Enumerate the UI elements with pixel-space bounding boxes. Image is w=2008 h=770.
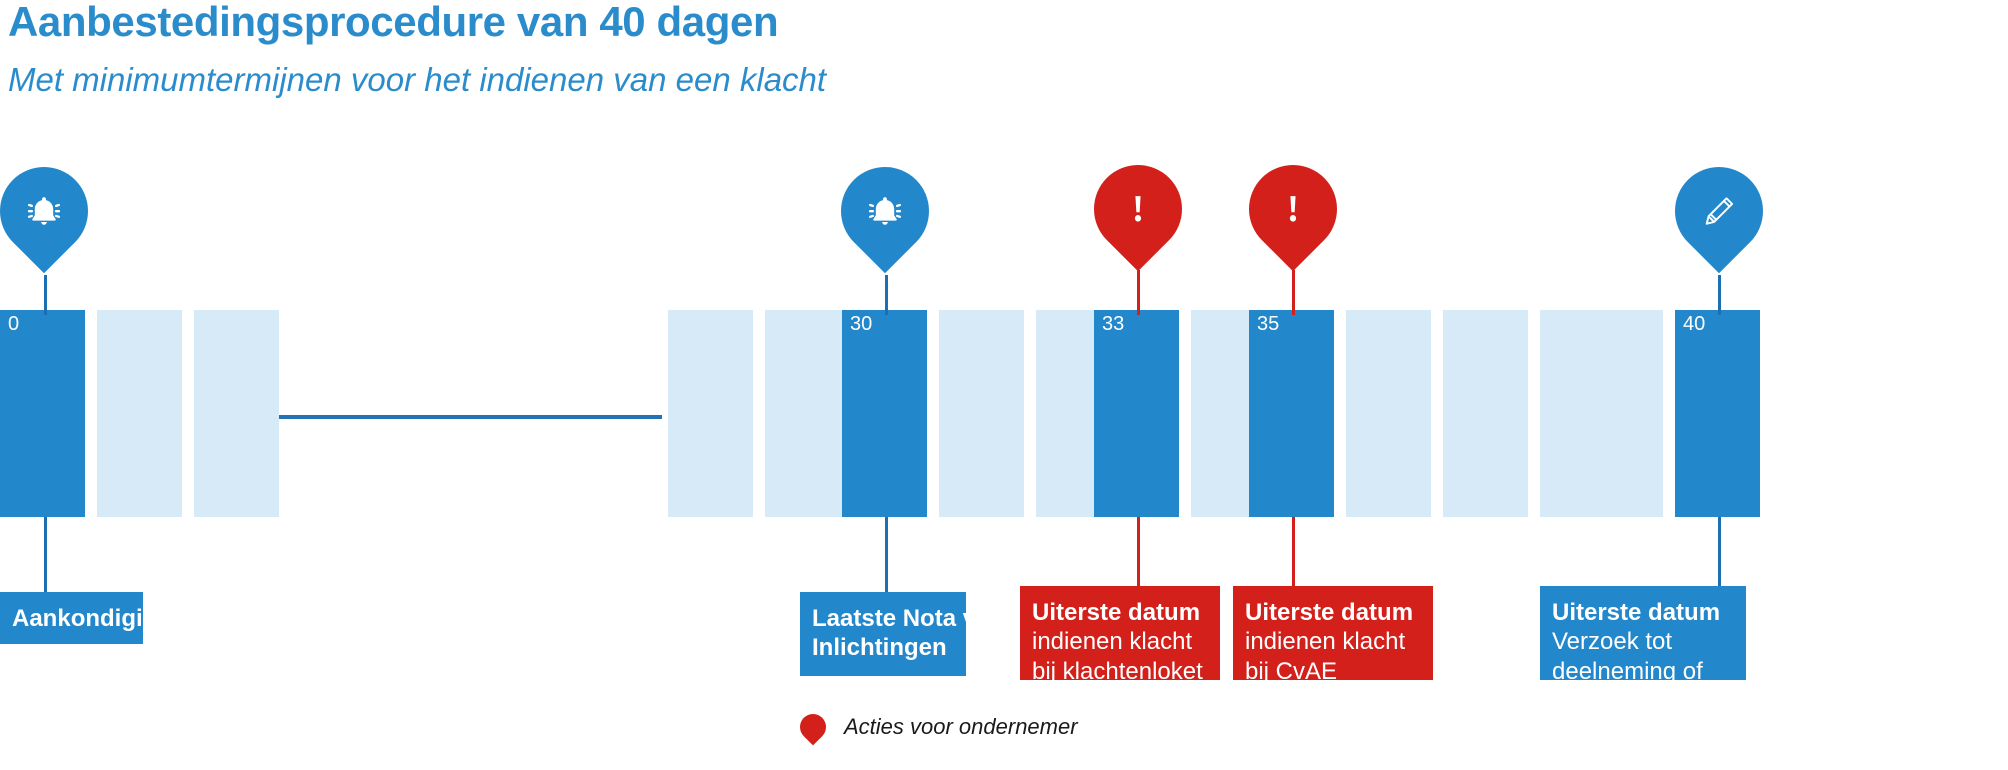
pin-stem-day-40 <box>1718 275 1721 315</box>
timeline-bar-day-30: 30 <box>842 310 927 517</box>
bell-icon <box>0 167 88 255</box>
timeline-gap-connector <box>272 415 662 419</box>
label-stem-day-0 <box>44 517 47 595</box>
timeline-bar <box>939 310 1024 517</box>
milestone-label-day-40[interactable]: Uiterste datum Verzoek tot deelneming of… <box>1540 586 1746 680</box>
milestone-label-title: Uiterste datum <box>1552 598 1736 627</box>
timeline-bar-day-40: 40 <box>1675 310 1760 517</box>
legend-label: Acties voor ondernemer <box>844 714 1078 740</box>
timeline-bar <box>194 310 279 517</box>
milestone-pin-day-40[interactable] <box>1675 167 1763 279</box>
timeline-bar <box>97 310 182 517</box>
bar-day-label: 40 <box>1683 314 1705 334</box>
milestone-label-day-35[interactable]: Uiterste datum indienen klacht bij CvAE <box>1233 586 1433 680</box>
bar-day-label: 35 <box>1257 314 1279 334</box>
milestone-label-day-33[interactable]: Uiterste datum indienen klacht bij klach… <box>1020 586 1220 680</box>
bell-icon <box>841 167 929 255</box>
infographic-canvas: Aanbestedingsprocedure van 40 dagen Met … <box>0 0 2008 770</box>
milestone-label-title: Aankondiging <box>12 604 133 633</box>
legend: Acties voor ondernemer <box>800 714 1078 740</box>
milestone-label-body: indienen klacht bij klachtenloket <box>1032 627 1210 680</box>
timeline-bar <box>668 310 753 517</box>
milestone-label-title: Uiterste datum <box>1032 598 1210 627</box>
bar-day-label: 33 <box>1102 314 1124 334</box>
milestone-pin-day-35[interactable] <box>1249 165 1337 277</box>
milestone-pin-day-30[interactable] <box>841 167 929 279</box>
pin-stem-day-30 <box>885 275 888 315</box>
page-title: Aanbestedingsprocedure van 40 dagen <box>8 0 778 46</box>
label-stem-day-40 <box>1718 517 1721 589</box>
timeline-bar <box>1578 310 1663 517</box>
page-subtitle: Met minimumtermijnen voor het indienen v… <box>8 60 888 100</box>
timeline-bar <box>1443 310 1528 517</box>
timeline-bar <box>765 310 850 517</box>
bar-day-label: 0 <box>8 314 19 334</box>
milestone-label-day-30[interactable]: Laatste Nota van Inlichtingen <box>800 592 966 676</box>
milestone-pin-day-33[interactable] <box>1094 165 1182 277</box>
exclamation-icon <box>1094 165 1182 253</box>
timeline-bar-day-0: 0 <box>0 310 85 517</box>
label-stem-day-33 <box>1137 517 1140 589</box>
milestone-label-title: Laatste Nota van <box>812 604 956 633</box>
pencil-icon <box>1675 167 1763 255</box>
map-pin-icon <box>795 709 832 746</box>
milestone-pin-day-0[interactable] <box>0 167 88 279</box>
label-stem-day-30 <box>885 517 888 595</box>
exclamation-icon <box>1249 165 1337 253</box>
timeline-bar-day-35: 35 <box>1249 310 1334 517</box>
timeline-bar-day-33: 33 <box>1094 310 1179 517</box>
timeline-bar <box>1346 310 1431 517</box>
milestone-label-title: Uiterste datum <box>1245 598 1423 627</box>
milestone-label-body: indienen klacht bij CvAE <box>1245 627 1423 680</box>
label-stem-day-35 <box>1292 517 1295 589</box>
milestone-label-day-0[interactable]: Aankondiging <box>0 592 143 644</box>
milestone-label-body: Verzoek tot deelneming of inschrijving <box>1552 627 1736 680</box>
bar-day-label: 30 <box>850 314 872 334</box>
pin-stem-day-0 <box>44 275 47 315</box>
milestone-label-title-2: Inlichtingen <box>812 633 956 662</box>
